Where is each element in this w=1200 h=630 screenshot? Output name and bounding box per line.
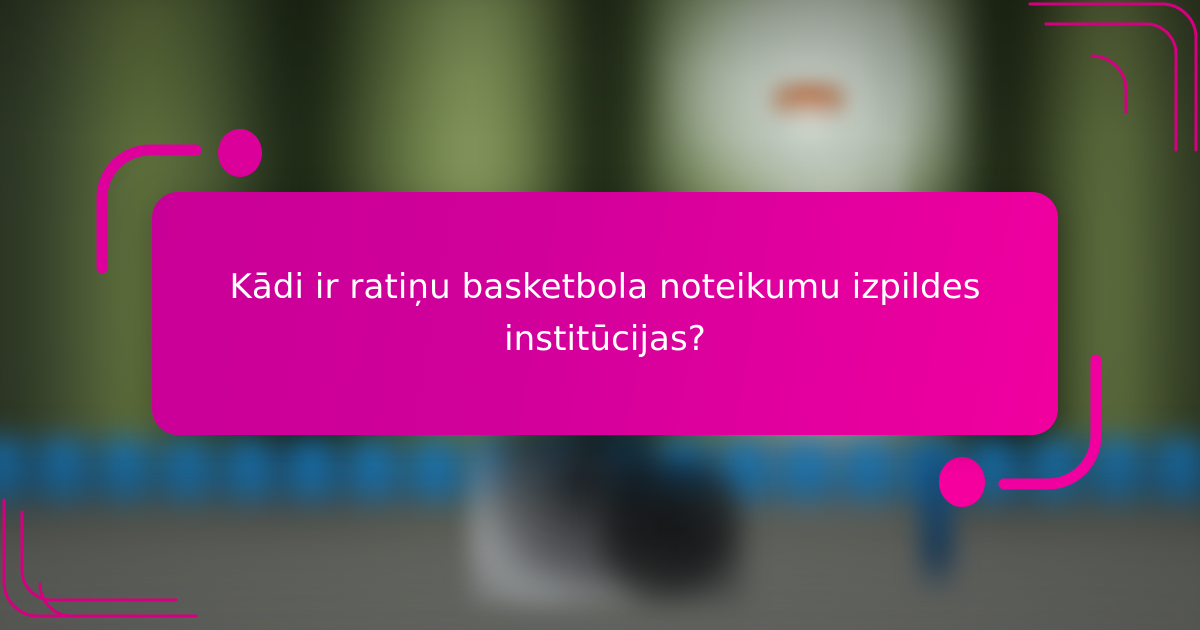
og-image-canvas: Kādi ir ratiņu basketbola noteikumu izpi…: [0, 0, 1200, 630]
title-card: Kādi ir ratiņu basketbola noteikumu izpi…: [152, 192, 1058, 435]
page-title: Kādi ir ratiņu basketbola noteikumu izpi…: [210, 262, 1000, 365]
